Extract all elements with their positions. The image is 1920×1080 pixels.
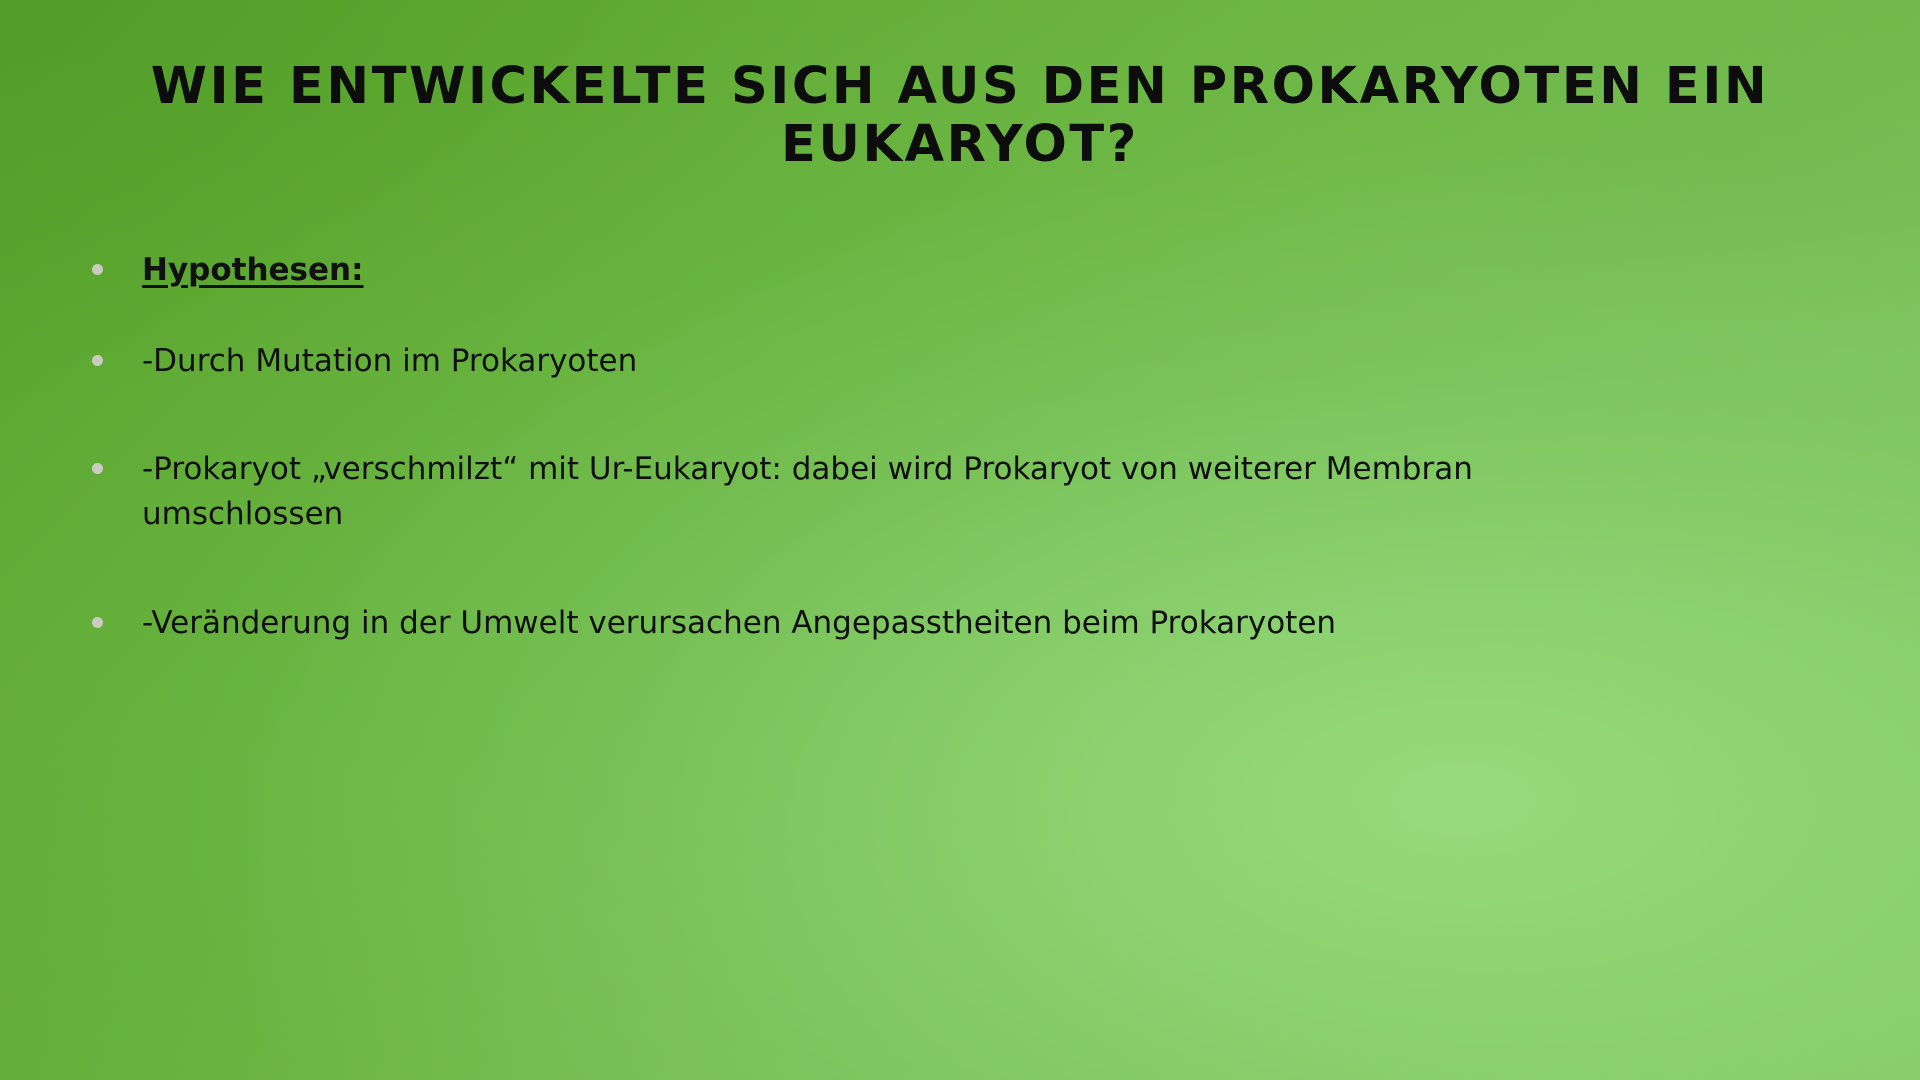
presentation-slide: Wie entwickelte sich aus den Prokaryoten… <box>0 0 1920 1080</box>
bullet-item-mutation: -Durch Mutation im Prokaryoten <box>86 339 1846 384</box>
title-block: Wie entwickelte sich aus den Prokaryoten… <box>120 58 1800 174</box>
bullet-item-hypothesen: Hypothesen: <box>86 248 1846 293</box>
bullet-dot-icon <box>92 264 103 275</box>
bullet-item-umweltveraenderung: -Veränderung in der Umwelt verursachen A… <box>86 601 1846 646</box>
bullet-dot-icon <box>92 355 103 366</box>
bullet-list: Hypothesen: -Durch Mutation im Prokaryot… <box>86 248 1846 646</box>
slide-title: Wie entwickelte sich aus den Prokaryoten… <box>120 58 1800 174</box>
bullet-dot-icon <box>92 617 103 628</box>
bullet-text: -Durch Mutation im Prokaryoten <box>142 343 637 379</box>
bullet-text: -Prokaryot „verschmilzt“ mit Ur-Eukaryot… <box>142 451 1473 532</box>
slide-content: Wie entwickelte sich aus den Prokaryoten… <box>0 0 1920 1080</box>
bullet-dot-icon <box>92 463 103 474</box>
bullet-text: -Veränderung in der Umwelt verursachen A… <box>142 605 1336 641</box>
bullet-item-verschmelzung: -Prokaryot „verschmilzt“ mit Ur-Eukaryot… <box>86 447 1562 538</box>
bullet-text: Hypothesen: <box>142 252 364 288</box>
